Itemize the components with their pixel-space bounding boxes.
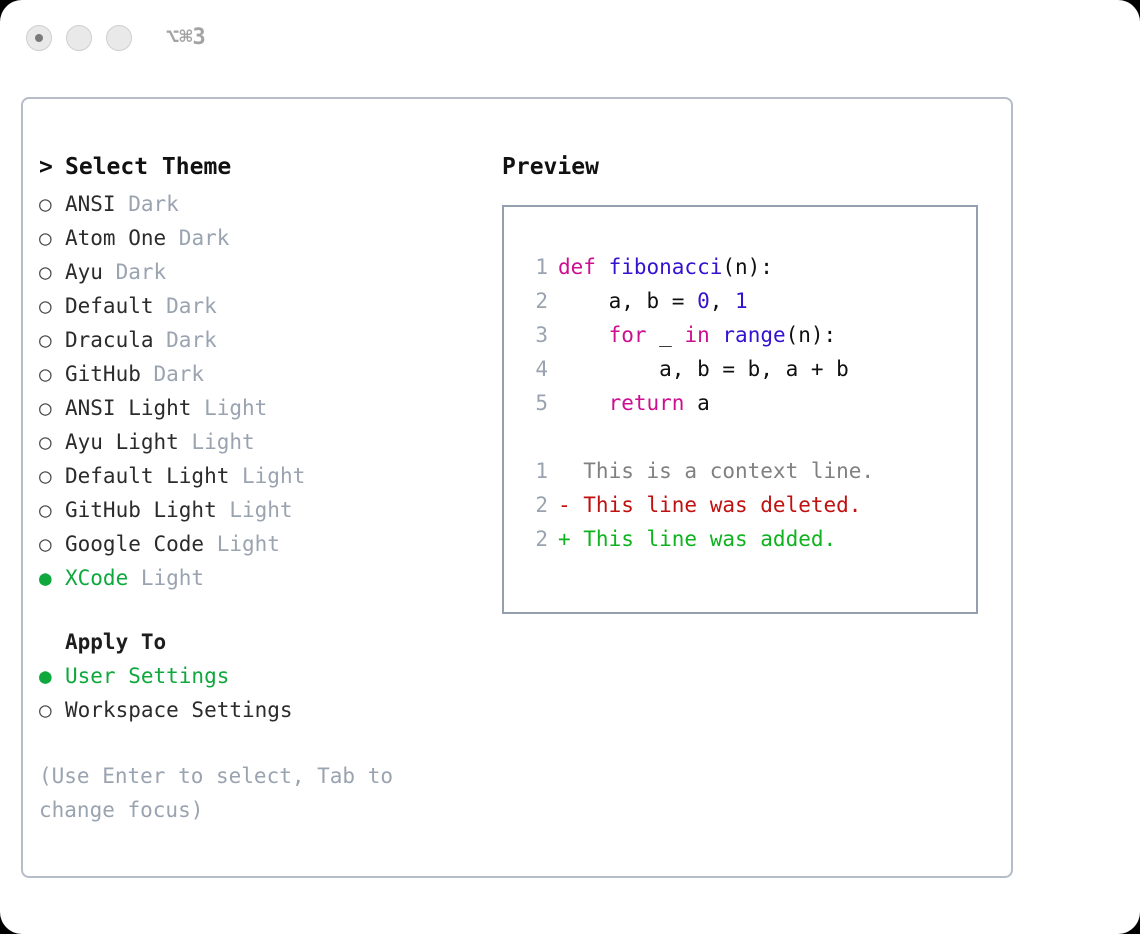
theme-variant-badge: Dark <box>166 226 229 250</box>
radio-selected-icon: ● <box>39 561 65 595</box>
code-token: fibonacci <box>609 255 723 279</box>
line-number: 1 <box>518 250 548 284</box>
apply-to-label: User Settings <box>65 664 229 688</box>
apply-to-section: Apply To ●User Settings○Workspace Settin… <box>39 625 479 727</box>
code-token: in <box>684 323 709 347</box>
theme-list-item[interactable]: ○Default Light Light <box>39 459 479 493</box>
radio-unselected-icon: ○ <box>39 289 65 323</box>
diff-line: 1 This is a context line. <box>518 454 968 488</box>
preview-column: Preview 1def fibonacci(n):2 a, b = 0, 13… <box>502 147 992 187</box>
diff-line: 2+ This line was added. <box>518 522 968 556</box>
theme-name: Default <box>65 294 154 318</box>
code-line: 4 a, b = b, a + b <box>518 352 968 386</box>
preview-code-area: 1def fibonacci(n):2 a, b = 0, 13 for _ i… <box>518 250 968 556</box>
theme-name: Atom One <box>65 226 166 250</box>
theme-variant-badge: Light <box>217 498 293 522</box>
keyboard-shortcut-label: ⌥⌘3 <box>166 24 206 52</box>
window-button-close-indicator <box>35 34 43 42</box>
theme-name: Default Light <box>65 464 229 488</box>
window-button-maximize[interactable] <box>106 25 132 51</box>
theme-name: GitHub Light <box>65 498 217 522</box>
caret-icon: > <box>39 147 65 187</box>
theme-list-item[interactable]: ○GitHub Light Light <box>39 493 479 527</box>
radio-unselected-icon: ○ <box>39 357 65 391</box>
radio-unselected-icon: ○ <box>39 323 65 357</box>
code-diff-spacer <box>518 420 968 454</box>
theme-list-item[interactable]: ○Atom One Dark <box>39 221 479 255</box>
line-number: 4 <box>518 352 548 386</box>
code-token: a, b = <box>558 289 697 313</box>
preview-heading: Preview <box>502 147 992 187</box>
code-token: def <box>558 255 609 279</box>
theme-variant-badge: Light <box>204 532 280 556</box>
theme-variant-badge: Dark <box>154 328 217 352</box>
theme-variant-badge: Dark <box>116 192 179 216</box>
theme-variant-badge: Dark <box>141 362 204 386</box>
line-number: 2 <box>518 488 548 522</box>
code-token: 1 <box>735 289 748 313</box>
code-token: (n): <box>722 255 773 279</box>
radio-unselected-icon: ○ <box>39 527 65 561</box>
theme-name: ANSI <box>65 192 116 216</box>
radio-unselected-icon: ○ <box>39 391 65 425</box>
theme-name: ANSI Light <box>65 396 191 420</box>
radio-unselected-icon: ○ <box>39 221 65 255</box>
radio-unselected-icon: ○ <box>39 459 65 493</box>
app-window: ⌥⌘3 >Select Theme ○ANSI Dark○Atom One Da… <box>0 0 1140 934</box>
diff-line: 2- This line was deleted. <box>518 488 968 522</box>
code-token: (n): <box>786 323 837 347</box>
apply-to-list: ●User Settings○Workspace Settings <box>39 659 479 727</box>
title-bar: ⌥⌘3 <box>0 0 1140 78</box>
code-token <box>558 391 609 415</box>
theme-list-item[interactable]: ○Default Dark <box>39 289 479 323</box>
code-token: range <box>722 323 785 347</box>
theme-variant-badge: Light <box>191 396 267 420</box>
select-theme-heading: >Select Theme <box>39 147 479 187</box>
radio-unselected-icon: ○ <box>39 493 65 527</box>
apply-to-item[interactable]: ●User Settings <box>39 659 479 693</box>
radio-unselected-icon: ○ <box>39 187 65 221</box>
line-number: 3 <box>518 318 548 352</box>
code-token: - This line was deleted. <box>558 493 861 517</box>
code-token <box>558 323 609 347</box>
code-token: This is a context line. <box>558 459 874 483</box>
theme-variant-badge: Dark <box>103 260 166 284</box>
theme-list-item[interactable]: ○Ayu Dark <box>39 255 479 289</box>
theme-list-item[interactable]: ○Ayu Light Light <box>39 425 479 459</box>
code-token: , <box>710 289 735 313</box>
select-theme-heading-label: Select Theme <box>65 154 231 180</box>
code-token: 0 <box>697 289 710 313</box>
code-token: a, b = b, a + b <box>558 357 849 381</box>
apply-to-label: Workspace Settings <box>65 698 293 722</box>
theme-name: GitHub <box>65 362 141 386</box>
theme-name: Ayu Light <box>65 430 179 454</box>
line-number: 5 <box>518 386 548 420</box>
theme-variant-badge: Light <box>128 566 204 590</box>
theme-variant-badge: Dark <box>154 294 217 318</box>
code-line: 2 a, b = 0, 1 <box>518 284 968 318</box>
code-line: 3 for _ in range(n): <box>518 318 968 352</box>
theme-picker-column: >Select Theme ○ANSI Dark○Atom One Dark○A… <box>39 147 479 827</box>
radio-unselected-icon: ○ <box>39 693 65 727</box>
theme-list-item[interactable]: ●XCode Light <box>39 561 479 595</box>
window-button-minimize[interactable] <box>66 25 92 51</box>
theme-variant-badge: Light <box>229 464 305 488</box>
theme-name: XCode <box>65 566 128 590</box>
radio-selected-icon: ● <box>39 659 65 693</box>
code-token: for <box>609 323 647 347</box>
code-token: a <box>684 391 709 415</box>
apply-to-title: Apply To <box>39 625 479 659</box>
keyboard-hint-text: (Use Enter to select, Tab to change focu… <box>39 759 439 827</box>
code-token: + This line was added. <box>558 527 836 551</box>
theme-name: Ayu <box>65 260 103 284</box>
theme-list-item[interactable]: ○Google Code Light <box>39 527 479 561</box>
code-token: return <box>609 391 685 415</box>
theme-variant-badge: Light <box>179 430 255 454</box>
theme-list-item[interactable]: ○Dracula Dark <box>39 323 479 357</box>
code-token <box>710 323 723 347</box>
theme-list-item[interactable]: ○ANSI Light Light <box>39 391 479 425</box>
theme-list-item[interactable]: ○ANSI Dark <box>39 187 479 221</box>
apply-to-item[interactable]: ○Workspace Settings <box>39 693 479 727</box>
code-line: 1def fibonacci(n): <box>518 250 968 284</box>
theme-name: Google Code <box>65 532 204 556</box>
theme-name: Dracula <box>65 328 154 352</box>
line-number: 1 <box>518 454 548 488</box>
theme-list: ○ANSI Dark○Atom One Dark○Ayu Dark○Defaul… <box>39 187 479 595</box>
code-line: 5 return a <box>518 386 968 420</box>
radio-unselected-icon: ○ <box>39 255 65 289</box>
line-number: 2 <box>518 284 548 318</box>
theme-list-item[interactable]: ○GitHub Dark <box>39 357 479 391</box>
diff-sample: 1 This is a context line.2- This line wa… <box>518 454 968 556</box>
code-sample: 1def fibonacci(n):2 a, b = 0, 13 for _ i… <box>518 250 968 420</box>
line-number: 2 <box>518 522 548 556</box>
preview-box: 1def fibonacci(n):2 a, b = 0, 13 for _ i… <box>502 205 978 614</box>
main-panel: >Select Theme ○ANSI Dark○Atom One Dark○A… <box>21 97 1013 878</box>
radio-unselected-icon: ○ <box>39 425 65 459</box>
code-token: _ <box>647 323 685 347</box>
